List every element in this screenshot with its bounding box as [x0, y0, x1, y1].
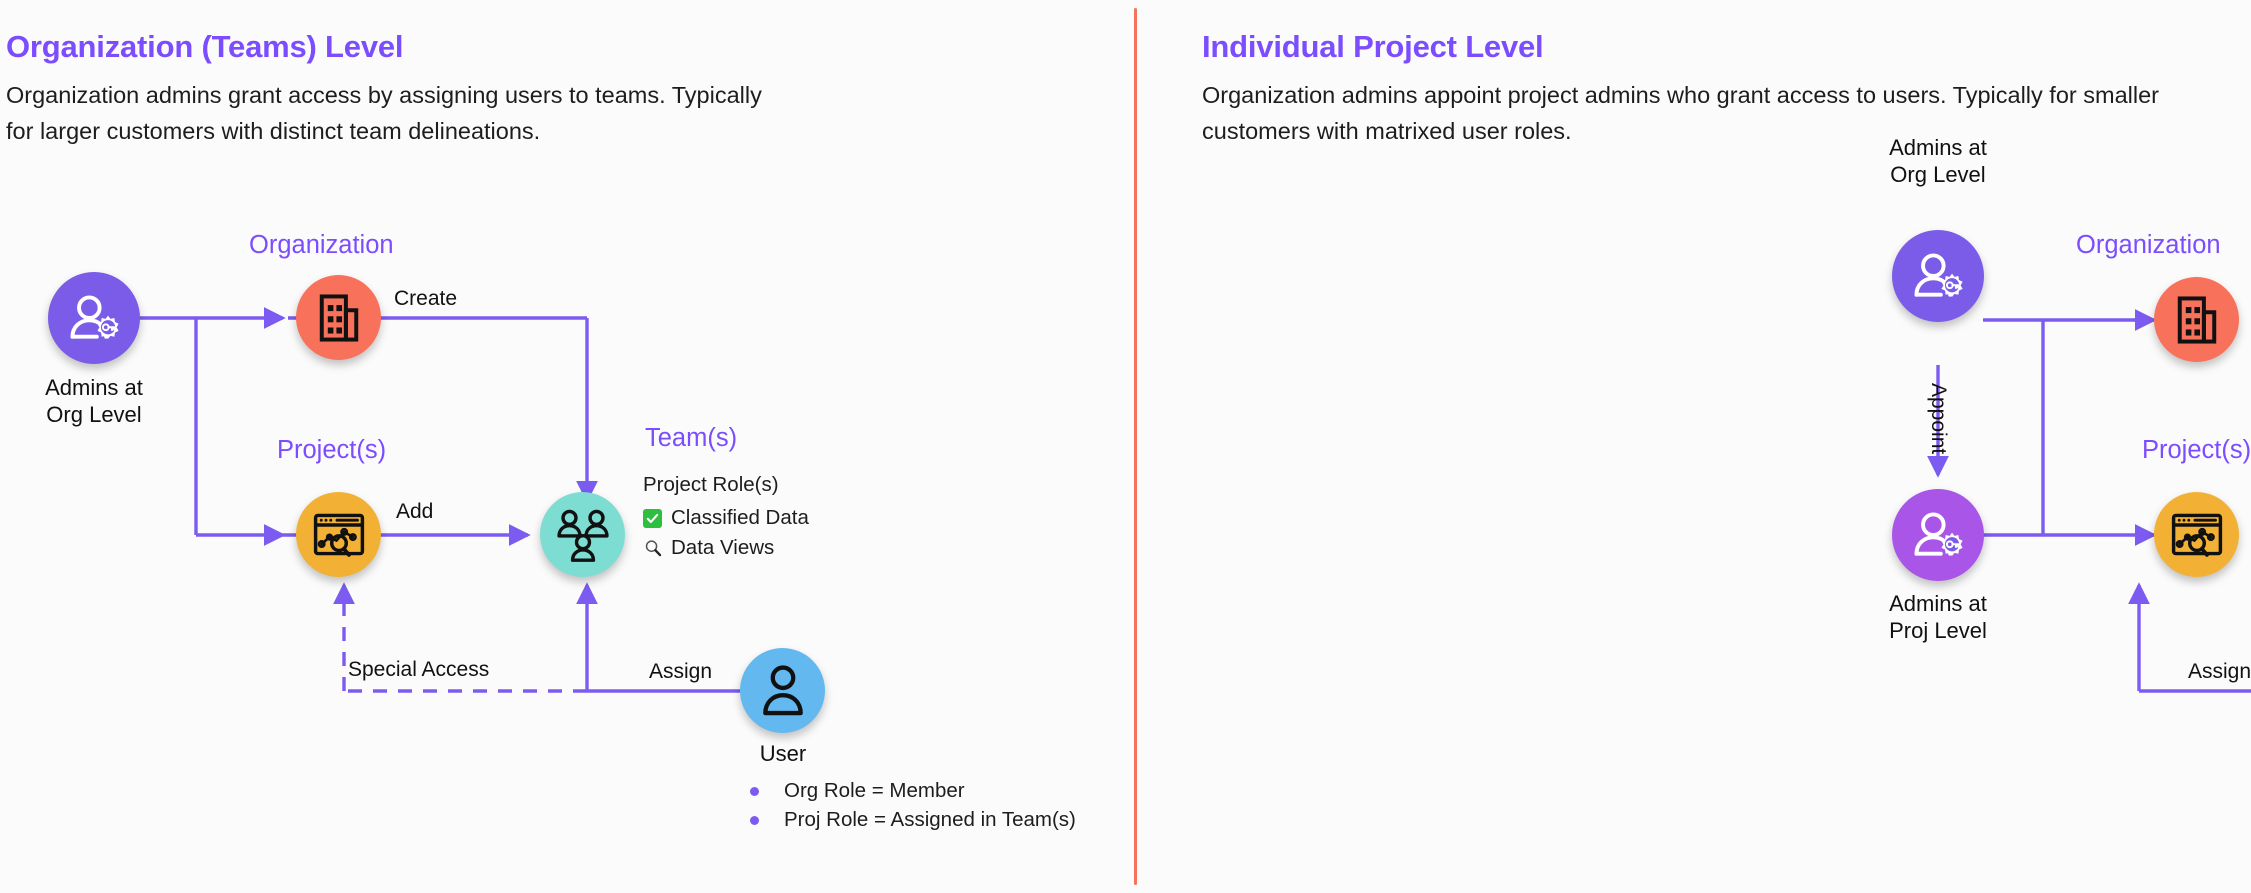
admin-key-gear-icon	[1909, 249, 1967, 303]
node-label-user: User	[742, 740, 824, 767]
node-organization[interactable]	[2154, 277, 2239, 362]
panel-description-org-teams: Organization admins grant access by assi…	[6, 77, 766, 149]
team-project-roles: Project Role(s) Classified Data Data Vie…	[643, 473, 809, 566]
team-people-icon	[556, 508, 610, 562]
project-dashboard-icon	[2171, 510, 2223, 559]
bullet-org-role: Org Role = Member	[750, 779, 1076, 803]
node-label-admins-org-level: Admins at Org Level	[13, 374, 175, 428]
panel-title-individual-project: Individual Project Level	[1202, 29, 1543, 65]
role-row-classified-data: Classified Data	[643, 506, 809, 530]
role-label-classified-data: Classified Data	[671, 506, 809, 530]
edge-label-assign: Assign	[2188, 660, 2251, 684]
node-caption-organization: Organization	[249, 231, 394, 260]
building-icon	[2172, 295, 2222, 345]
node-projects[interactable]	[296, 492, 381, 577]
admin-key-gear-icon	[1909, 508, 1967, 562]
edge-label-add: Add	[396, 500, 433, 524]
panel-org-teams-level: Organization (Teams) Level Organization …	[0, 0, 1134, 893]
role-label-data-views: Data Views	[671, 536, 774, 560]
bullet-label-org-role: Org Role = Member	[784, 779, 965, 803]
panel-divider	[1134, 8, 1137, 885]
panel-description-individual-project: Organization admins appoint project admi…	[1202, 77, 2242, 149]
node-admins-org-level[interactable]	[1892, 230, 1984, 322]
node-projects[interactable]	[2154, 492, 2239, 577]
edge-label-create: Create	[394, 287, 457, 311]
bullet-dot-icon	[750, 787, 759, 796]
node-caption-projects: Project(s)	[2142, 436, 2251, 465]
node-admins-org-level[interactable]	[48, 272, 140, 364]
edge-label-appoint: Appoint	[1926, 383, 1950, 454]
bullet-dot-icon	[750, 816, 759, 825]
node-caption-projects: Project(s)	[277, 436, 386, 465]
project-roles-title: Project Role(s)	[643, 473, 809, 497]
bullet-label-proj-role: Proj Role = Assigned in Team(s)	[784, 808, 1076, 832]
edge-label-special-access: Special Access	[348, 658, 489, 682]
project-dashboard-icon	[313, 510, 365, 559]
panel-individual-project-level: Individual Project Level Organization ad…	[1150, 0, 2251, 893]
node-caption-teams: Team(s)	[645, 424, 737, 453]
node-teams[interactable]	[540, 492, 625, 577]
user-icon	[760, 664, 806, 717]
green-check-icon	[643, 509, 662, 528]
building-icon	[314, 293, 364, 343]
admin-key-gear-icon	[65, 291, 123, 345]
node-label-admins-org-level: Admins at Org Level	[1857, 134, 2019, 188]
edge-label-assign: Assign	[649, 660, 712, 684]
node-organization[interactable]	[296, 275, 381, 360]
node-caption-organization: Organization	[2076, 231, 2221, 260]
role-row-data-views: Data Views	[643, 536, 809, 560]
bullet-proj-role: Proj Role = Assigned in Team(s)	[750, 808, 1076, 832]
user-bullets: Org Role = Member Proj Role = Assigned i…	[750, 779, 1076, 837]
node-admins-proj-level[interactable]	[1892, 489, 1984, 581]
panel-title-org-teams: Organization (Teams) Level	[6, 29, 403, 65]
node-user[interactable]	[740, 648, 825, 733]
magnifier-icon	[643, 539, 662, 558]
node-label-admins-proj-level: Admins at Proj Level	[1857, 590, 2019, 644]
